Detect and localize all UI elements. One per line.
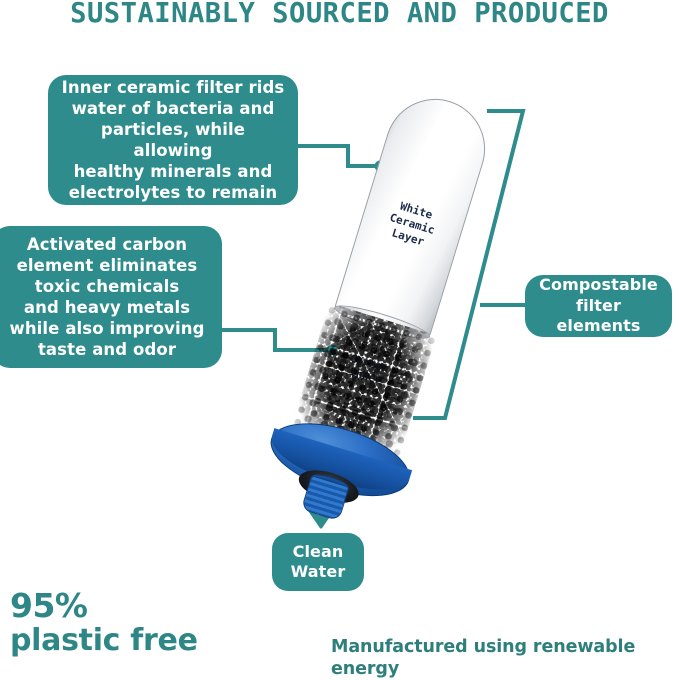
callout-clean-water-text: Clean Water — [291, 542, 346, 583]
connector-ceramic — [298, 146, 378, 166]
callout-activated-carbon: Activated carbon element eliminates toxi… — [0, 226, 222, 368]
renewable-energy-note: Manufactured using renewable energy — [331, 636, 679, 680]
callout-clean-water: Clean Water — [272, 533, 364, 591]
plastic-free-label: plastic free — [10, 624, 198, 658]
connector-carbon — [222, 330, 330, 350]
water-filter-cartridge: White Ceramic Layer Carbon Inner — [314, 86, 497, 402]
plastic-free-percent: 95% — [10, 588, 88, 624]
callout-compostable-text: Compostable filter elements — [533, 275, 664, 336]
infographic-canvas: SUSTAINABLY SOURCED AND PRODUCED White C… — [0, 0, 679, 663]
page-title: SUSTAINABLY SOURCED AND PRODUCED — [10, 0, 669, 33]
callout-ceramic-filter: Inner ceramic filter rids water of bacte… — [48, 75, 298, 205]
callout-compostable-elements: Compostable filter elements — [525, 275, 672, 337]
callout-ceramic-text: Inner ceramic filter rids water of bacte… — [60, 77, 286, 204]
callout-carbon-text: Activated carbon element eliminates toxi… — [9, 234, 204, 361]
